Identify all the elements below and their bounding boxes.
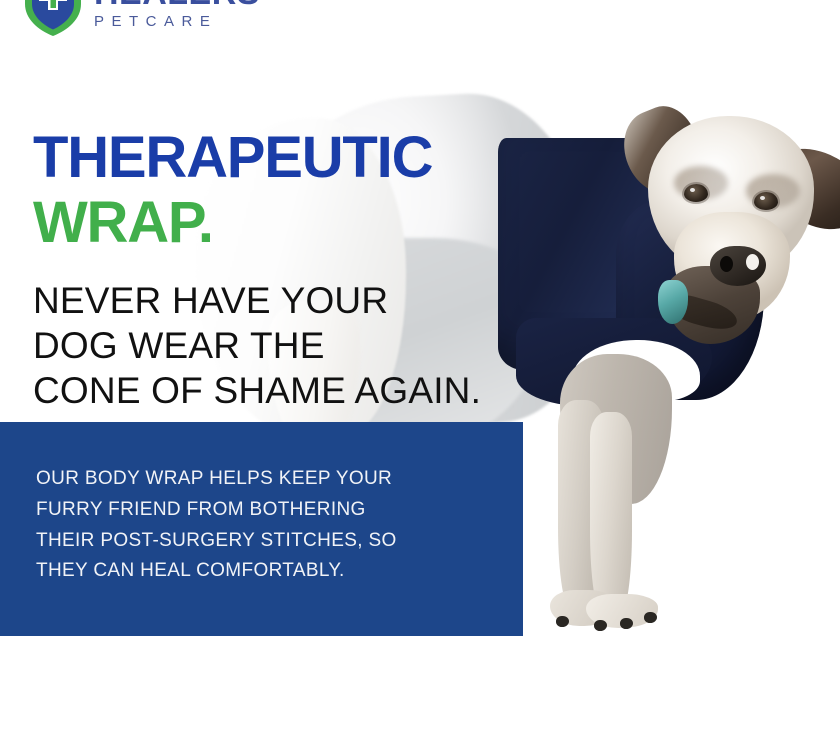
headline: THERAPEUTIC WRAP. (33, 131, 432, 250)
shield-medical-cross-icon (22, 0, 84, 38)
headline-line-2: WRAP. (33, 196, 432, 251)
dog-eye-glint (760, 196, 765, 200)
dog-eye-glint (690, 188, 695, 192)
dog-claw (556, 616, 569, 627)
dog-collar-tag (658, 280, 688, 324)
brand-wordmark: HEALERS PETCARE (94, 0, 260, 29)
dog-thigh (560, 354, 672, 504)
dog-muzzle (674, 212, 790, 320)
description-line-1: OUR BODY WRAP HELPS KEEP YOUR (36, 464, 523, 495)
description-panel: OUR BODY WRAP HELPS KEEP YOUR FURRY FRIE… (0, 422, 523, 636)
dog-figure (498, 104, 840, 644)
dog-eye-right (754, 192, 778, 210)
subheadline-line-2: DOG WEAR THE (33, 323, 481, 368)
therapeutic-wrap-shoulder (616, 200, 764, 400)
dog-front-leg-right (590, 412, 632, 616)
therapeutic-wrap-hem (516, 318, 712, 406)
subheadline-line-1: NEVER HAVE YOUR (33, 278, 481, 323)
dog-claw (594, 620, 607, 631)
dog-claw (620, 618, 633, 629)
dog-ear-left (612, 97, 714, 206)
dog-ear-right (753, 132, 840, 244)
therapeutic-wrap-torso (498, 138, 712, 370)
headline-line-1: THERAPEUTIC (33, 131, 432, 186)
dog-eye-left (684, 184, 708, 202)
dog-nose (710, 246, 766, 286)
dog-head (648, 116, 814, 274)
dog-paw-right (586, 594, 658, 628)
description-line-3: THEIR POST-SURGERY STITCHES, SO (36, 526, 523, 557)
description-line-2: FURRY FRIEND FROM BOTHERING (36, 495, 523, 526)
dog-nostril-left (720, 256, 733, 272)
dog-paw-left (550, 590, 616, 626)
brand-logo[interactable]: HEALERS PETCARE (22, 0, 260, 38)
dog-claw (644, 612, 657, 623)
dog-collar-strap (668, 291, 741, 335)
subheadline: NEVER HAVE YOUR DOG WEAR THE CONE OF SHA… (33, 278, 481, 413)
brand-name: HEALERS (94, 0, 260, 10)
advertisement-banner: HEALERS PETCARE THERAPEUTIC WRAP. NEVER … (0, 0, 840, 740)
dog-brow-marking-left (674, 166, 728, 200)
dog-nostril-right (746, 254, 759, 270)
dog-jowl (666, 266, 760, 344)
therapeutic-wrap-leg-opening (572, 340, 700, 402)
subheadline-line-3: CONE OF SHAME AGAIN. (33, 368, 481, 413)
dog-brow-marking-right (746, 174, 800, 208)
brand-tagline: PETCARE (94, 14, 260, 29)
description-line-4: THEY CAN HEAL COMFORTABLY. (36, 556, 523, 587)
dog-front-leg-left (558, 400, 604, 612)
